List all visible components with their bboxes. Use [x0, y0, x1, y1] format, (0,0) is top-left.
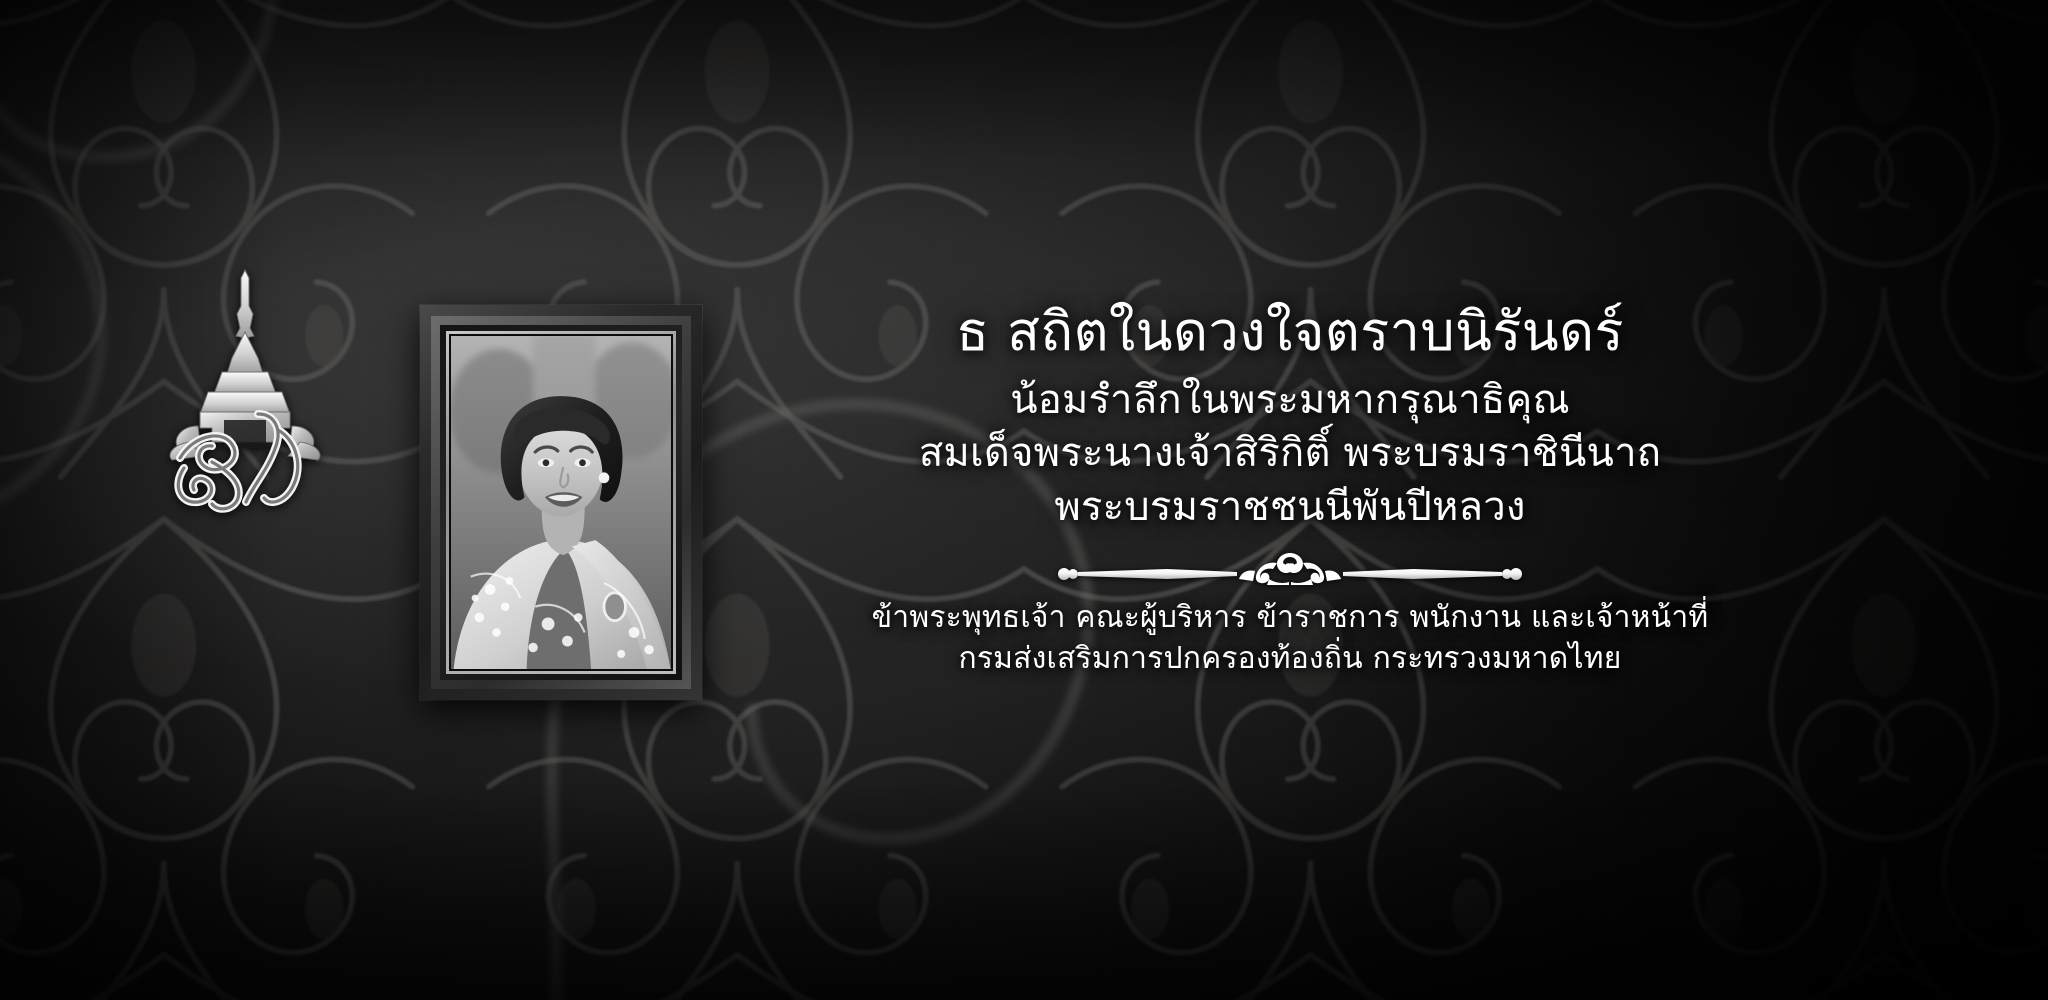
portrait-photo: [451, 336, 671, 669]
frame-layer-mid: [440, 325, 682, 680]
tribute-banner: ธ สถิตในดวงใจตราบนิรันดร์ น้อมรำลึกในพระ…: [0, 0, 2048, 1000]
tribute-line-3: พระบรมราชชนนีพันปีหลวง: [830, 481, 1750, 535]
signature-line-2: กรมส่งเสริมการปกครองท้องถิ่น กระทรวงมหาด…: [830, 638, 1750, 679]
tribute-line-2: สมเด็จพระนางเจ้าสิริกิติ์ พระบรมราชินีนา…: [830, 427, 1750, 481]
frame-bevel: [446, 331, 676, 674]
portrait-frame: [420, 305, 702, 700]
tribute-text-block: ธ สถิตในดวงใจตราบนิรันดร์ น้อมรำลึกในพระ…: [830, 300, 1750, 679]
floral-ornament-divider-icon: [1055, 551, 1525, 585]
tribute-line-1: น้อมรำลึกในพระมหากรุณาธิคุณ: [830, 374, 1750, 428]
royal-cypher-emblem-icon: [150, 262, 340, 517]
frame-inner: [449, 334, 673, 671]
frame-layer-outer: [431, 316, 691, 689]
signature-line-1: ข้าพระพุทธเจ้า คณะผู้บริหาร ข้าราชการ พน…: [830, 597, 1750, 638]
tribute-headline: ธ สถิตในดวงใจตราบนิรันดร์: [830, 300, 1750, 364]
